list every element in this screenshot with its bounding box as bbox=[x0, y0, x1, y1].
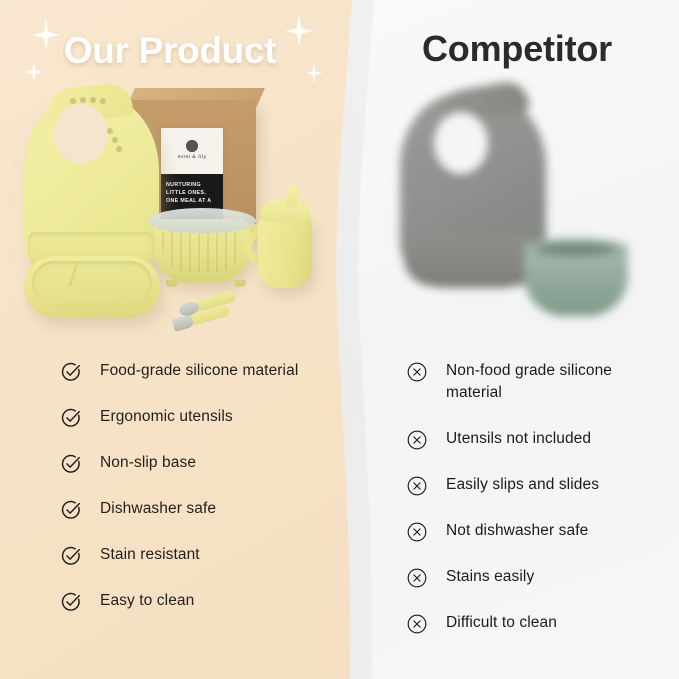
x-circle-icon bbox=[406, 429, 428, 451]
fork-head bbox=[172, 314, 195, 332]
feature-item: Food-grade silicone material bbox=[60, 360, 330, 383]
competitor-image bbox=[390, 86, 670, 338]
x-circle-icon bbox=[406, 475, 428, 497]
drawback-item: Difficult to clean bbox=[406, 612, 671, 635]
bowl-foot bbox=[234, 280, 246, 287]
bib-snap-button bbox=[116, 146, 122, 152]
x-circle-icon bbox=[406, 567, 428, 589]
check-circle-icon bbox=[60, 545, 82, 567]
drawback-label: Easily slips and slides bbox=[446, 474, 599, 496]
competitor-title: Competitor bbox=[372, 28, 662, 70]
bib-snap-button bbox=[100, 98, 106, 104]
bib-snap-button bbox=[107, 128, 113, 134]
feature-label: Non-slip base bbox=[100, 452, 196, 474]
drawback-item: Not dishwasher safe bbox=[406, 520, 671, 543]
drawback-item: Utensils not included bbox=[406, 428, 671, 451]
competitor-feature-list: Non-food grade silicone material Utensil… bbox=[406, 360, 671, 658]
check-circle-icon bbox=[60, 499, 82, 521]
feature-item: Non-slip base bbox=[60, 452, 330, 475]
check-circle-icon bbox=[60, 361, 82, 383]
drawback-item: Stains easily bbox=[406, 566, 671, 589]
bowl-foot bbox=[166, 280, 178, 287]
brand-logo: mimi & lily bbox=[161, 134, 223, 160]
comparison-infographic: Our Product Competitor mimi & lily NURTU… bbox=[0, 0, 679, 679]
bib-snap-button bbox=[70, 98, 76, 104]
drawback-label: Utensils not included bbox=[446, 428, 591, 450]
our-product-image: mimi & lily NURTURING LITTLE ONES, ONE M… bbox=[6, 84, 336, 339]
tree-logo-icon bbox=[182, 134, 202, 154]
feature-label: Dishwasher safe bbox=[100, 498, 216, 520]
drawback-item: Easily slips and slides bbox=[406, 474, 671, 497]
check-circle-icon bbox=[60, 591, 82, 613]
bib-snap-button bbox=[90, 97, 96, 103]
competitor-bib-neck-opening bbox=[434, 112, 488, 174]
competitor-bib-pocket bbox=[404, 236, 542, 286]
feature-item: Dishwasher safe bbox=[60, 498, 330, 521]
bowl-clear-lid bbox=[148, 208, 256, 234]
feature-item: Easy to clean bbox=[60, 590, 330, 613]
drawback-label: Non-food grade silicone material bbox=[446, 360, 671, 405]
drawback-label: Not dishwasher safe bbox=[446, 520, 588, 542]
our-product-feature-list: Food-grade silicone material Ergonomic u… bbox=[60, 360, 330, 636]
competitor-bowl-interior bbox=[536, 243, 616, 256]
check-circle-icon bbox=[60, 453, 82, 475]
our-product-title: Our Product bbox=[0, 30, 340, 72]
drawback-label: Difficult to clean bbox=[446, 612, 557, 634]
sippy-cup bbox=[258, 214, 312, 288]
drawback-item: Non-food grade silicone material bbox=[406, 360, 671, 405]
bib-snap-button bbox=[112, 137, 118, 143]
feature-label: Easy to clean bbox=[100, 590, 194, 612]
x-circle-icon bbox=[406, 521, 428, 543]
feature-item: Ergonomic utensils bbox=[60, 406, 330, 429]
feature-label: Stain resistant bbox=[100, 544, 200, 566]
bib-neck-opening bbox=[54, 104, 108, 164]
plate-well bbox=[32, 261, 152, 305]
x-circle-icon bbox=[406, 613, 428, 635]
feature-item: Stain resistant bbox=[60, 544, 330, 567]
drawback-label: Stains easily bbox=[446, 566, 534, 588]
bib-snap-button bbox=[80, 97, 86, 103]
feature-label: Ergonomic utensils bbox=[100, 406, 233, 428]
bowl-ribbing bbox=[162, 232, 242, 272]
feature-label: Food-grade silicone material bbox=[100, 360, 298, 382]
brand-name: mimi & lily bbox=[161, 155, 223, 160]
check-circle-icon bbox=[60, 407, 82, 429]
x-circle-icon bbox=[406, 361, 428, 383]
